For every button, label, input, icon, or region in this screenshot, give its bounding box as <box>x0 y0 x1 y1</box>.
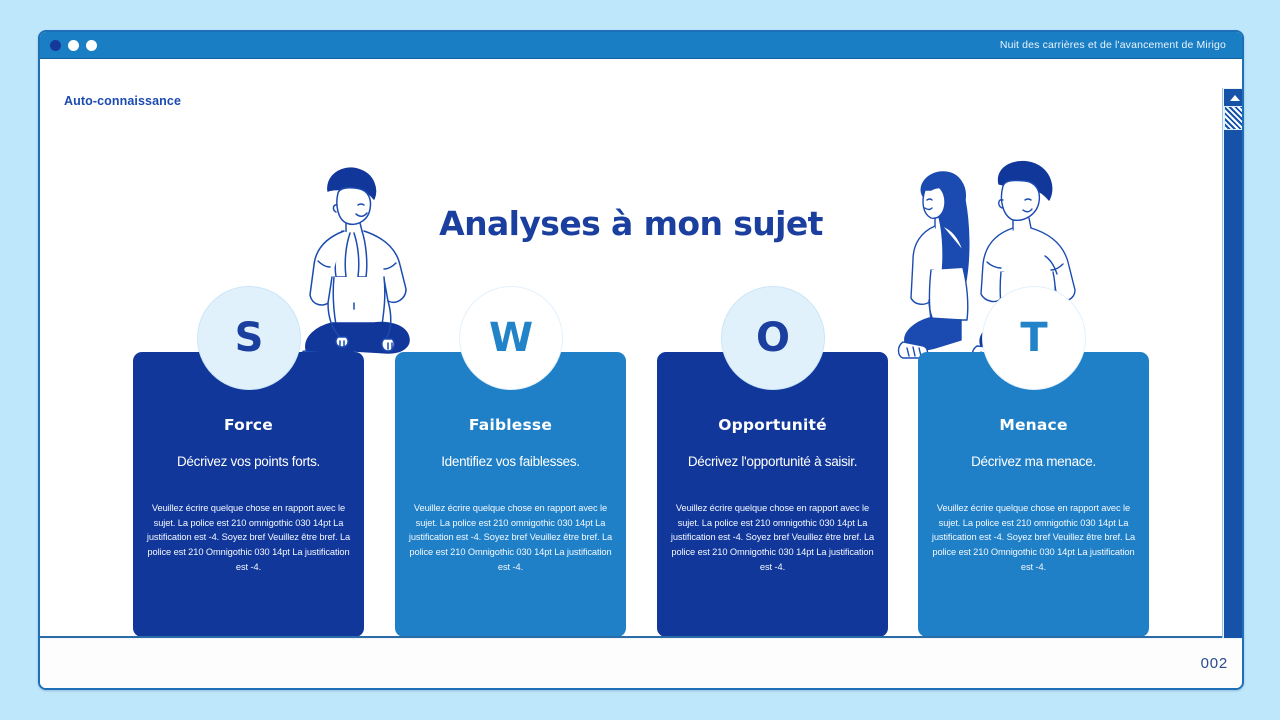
scrollbar-track[interactable] <box>1224 106 1244 648</box>
card-title: Menace <box>931 416 1136 434</box>
vertical-scrollbar[interactable] <box>1222 88 1244 666</box>
window-titlebar: Nuit des carrières et de l'avancement de… <box>40 32 1242 59</box>
statusbar: 002 <box>40 638 1244 688</box>
slide: Auto-connaissance Analyses à mon sujet <box>40 60 1222 636</box>
window-dot-1-icon[interactable] <box>50 40 61 51</box>
scroll-up-arrow-icon <box>1230 95 1240 101</box>
swot-card-weakness[interactable]: Faiblesse Identifiez vos faiblesses. Veu… <box>395 352 626 636</box>
swot-badge-s: S <box>197 286 301 390</box>
seated-person-illustration <box>288 165 448 375</box>
swot-card-strength[interactable]: Force Décrivez vos points forts. Veuille… <box>133 352 364 636</box>
page-number: 002 <box>1201 655 1228 672</box>
swot-card-threat[interactable]: Menace Décrivez ma menace. Veuillez écri… <box>918 352 1149 636</box>
card-body: Veuillez écrire quelque chose en rapport… <box>408 501 613 575</box>
section-label: Auto-connaissance <box>64 94 181 108</box>
swot-card-grid: Force Décrivez vos points forts. Veuille… <box>40 352 1222 636</box>
card-body: Veuillez écrire quelque chose en rapport… <box>146 501 351 575</box>
presentation-window: Nuit des carrières et de l'avancement de… <box>38 30 1244 690</box>
swot-badge-w: W <box>459 286 563 390</box>
swot-badge-o: O <box>721 286 825 390</box>
scroll-up-button[interactable] <box>1224 89 1244 106</box>
card-body: Veuillez écrire quelque chose en rapport… <box>931 501 1136 575</box>
window-dot-2-icon[interactable] <box>68 40 79 51</box>
card-subtitle: Identifiez vos faiblesses. <box>408 454 613 469</box>
card-title: Force <box>146 416 351 434</box>
card-subtitle: Décrivez vos points forts. <box>146 454 351 469</box>
card-title: Faiblesse <box>408 416 613 434</box>
scrollbar-thumb[interactable] <box>1224 106 1243 130</box>
window-title: Nuit des carrières et de l'avancement de… <box>1000 32 1226 59</box>
swot-card-opportunity[interactable]: Opportunité Décrivez l'opportunité à sai… <box>657 352 888 636</box>
swot-badge-t: T <box>982 286 1086 390</box>
window-controls <box>50 40 97 51</box>
card-subtitle: Décrivez ma menace. <box>931 454 1136 469</box>
window-dot-3-icon[interactable] <box>86 40 97 51</box>
card-body: Veuillez écrire quelque chose en rapport… <box>670 501 875 575</box>
card-title: Opportunité <box>670 416 875 434</box>
card-subtitle: Décrivez l'opportunité à saisir. <box>670 454 875 469</box>
slide-canvas-area: Auto-connaissance Analyses à mon sujet <box>40 60 1244 638</box>
